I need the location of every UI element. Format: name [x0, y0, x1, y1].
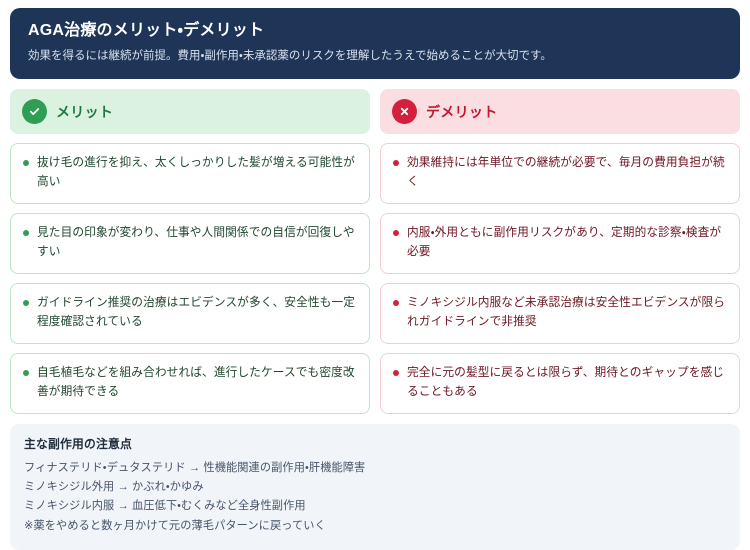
merit-card: 自毛植毛などを組み合わせれば、進行したケースでも密度改善が期待できる: [10, 353, 370, 414]
bullet-dot-icon: [23, 160, 29, 166]
page-title: AGA治療のメリット・デメリット: [28, 21, 722, 42]
page-root: AGA治療のメリット・デメリット 効果を得るには継続が前提。費用・副作用・未承認…: [0, 0, 750, 539]
merit-column: メリット 抜け毛の進行を抑え、太くしっかりした髪が増える可能性が高い 見た目の印…: [10, 89, 370, 414]
demerit-column: デメリット 効果維持には年単位での継続が必要で、毎月の費用負担が続く 内服・外用…: [380, 89, 740, 414]
demerit-card: 内服・外用ともに副作用リスクがあり、定期的な診察・検査が必要: [380, 213, 740, 274]
side-effect-notes: 主な副作用の注意点 フィナステリド・デュタステリド → 性機能関連の副作用・肝機…: [10, 424, 740, 550]
bullet-dot-icon: [393, 230, 399, 236]
demerit-card: 効果維持には年単位での継続が必要で、毎月の費用負担が続く: [380, 143, 740, 204]
demerit-card-text: 効果維持には年単位での継続が必要で、毎月の費用負担が続く: [407, 154, 727, 192]
notes-title: 主な副作用の注意点: [24, 435, 726, 452]
merit-heading: メリット: [56, 102, 113, 122]
demerit-card: 完全に元の髪型に戻るとは限らず、期待とのギャップを感じることもある: [380, 353, 740, 414]
demerit-heading: デメリット: [426, 102, 498, 122]
bullet-dot-icon: [23, 370, 29, 376]
bullet-dot-icon: [393, 370, 399, 376]
merit-card: 抜け毛の進行を抑え、太くしっかりした髪が増える可能性が高い: [10, 143, 370, 204]
merit-card-text: 見た目の印象が変わり、仕事や人間関係での自信が回復しやすい: [37, 224, 357, 262]
header-banner: AGA治療のメリット・デメリット 効果を得るには継続が前提。費用・副作用・未承認…: [10, 8, 740, 79]
merit-card: ガイドライン推奨の治療はエビデンスが多く、安全性も一定程度確認されている: [10, 283, 370, 344]
x-circle-icon: [392, 99, 417, 124]
demerit-column-header: デメリット: [380, 89, 740, 134]
comparison-columns: メリット 抜け毛の進行を抑え、太くしっかりした髪が増える可能性が高い 見た目の印…: [10, 89, 740, 414]
page-subtitle: 効果を得るには継続が前提。費用・副作用・未承認薬のリスクを理解したうえで始めるこ…: [28, 49, 722, 65]
check-circle-icon: [22, 99, 47, 124]
demerit-card-text: ミノキシジル内服など未承認治療は安全性エビデンスが限られガイドラインで非推奨: [407, 294, 727, 332]
demerit-card-text: 内服・外用ともに副作用リスクがあり、定期的な診察・検査が必要: [407, 224, 727, 262]
demerit-card-list: 効果維持には年単位での継続が必要で、毎月の費用負担が続く 内服・外用ともに副作用…: [380, 143, 740, 414]
bullet-dot-icon: [393, 160, 399, 166]
note-line: フィナステリド・デュタステリド → 性機能関連の副作用・肝機能障害: [24, 459, 726, 478]
bullet-dot-icon: [23, 300, 29, 306]
bullet-dot-icon: [393, 300, 399, 306]
demerit-card-text: 完全に元の髪型に戻るとは限らず、期待とのギャップを感じることもある: [407, 364, 727, 402]
note-line: ミノキシジル内服 → 血圧低下・むくみなど全身性副作用: [24, 497, 726, 516]
note-line: ミノキシジル外用 → かぶれ・かゆみ: [24, 478, 726, 497]
merit-card-text: 抜け毛の進行を抑え、太くしっかりした髪が増える可能性が高い: [37, 154, 357, 192]
demerit-card: ミノキシジル内服など未承認治療は安全性エビデンスが限られガイドラインで非推奨: [380, 283, 740, 344]
merit-card-list: 抜け毛の進行を抑え、太くしっかりした髪が増える可能性が高い 見た目の印象が変わり…: [10, 143, 370, 414]
merit-card: 見た目の印象が変わり、仕事や人間関係での自信が回復しやすい: [10, 213, 370, 274]
merit-column-header: メリット: [10, 89, 370, 134]
merit-card-text: ガイドライン推奨の治療はエビデンスが多く、安全性も一定程度確認されている: [37, 294, 357, 332]
merit-card-text: 自毛植毛などを組み合わせれば、進行したケースでも密度改善が期待できる: [37, 364, 357, 402]
note-line: ※薬をやめると数ヶ月かけて元の薄毛パターンに戻っていく: [24, 517, 726, 536]
bullet-dot-icon: [23, 230, 29, 236]
